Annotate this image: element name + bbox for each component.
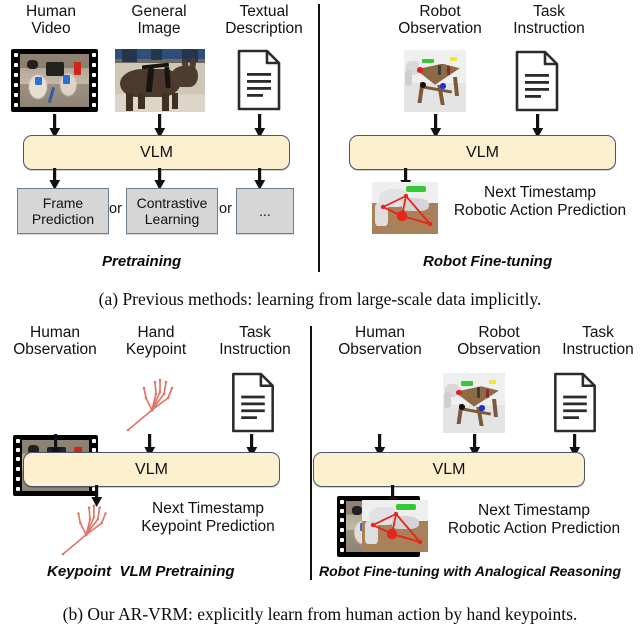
stage-label-keypoint-vlm-pretraining: Keypoint VLM Pretraining xyxy=(47,563,235,580)
robot-observation-icon xyxy=(443,373,505,433)
or-label-1: or xyxy=(219,201,232,217)
hand-keypoint-icon xyxy=(126,372,188,434)
human-video-scene xyxy=(20,54,89,107)
arrow-down-a-left-out-2 xyxy=(252,168,267,190)
colhead-a-left-2: Textual Description xyxy=(212,3,316,38)
colhead-b-right-1: Robot Observation xyxy=(440,324,558,359)
colhead-b-right-2: Task Instruction xyxy=(556,324,640,359)
keypoint-overlay xyxy=(372,182,438,234)
keypoint-overlay xyxy=(362,500,428,552)
film-strip-human-video-icon xyxy=(11,49,98,112)
output-box-ellipsis[interactable]: ... xyxy=(236,188,294,234)
vlm-box-b-left[interactable]: VLM xyxy=(23,452,280,487)
colhead-b-left-0: Human Observation xyxy=(0,324,110,359)
robot-observation-scene xyxy=(404,50,466,112)
colhead-b-left-1: Hand Keypoint xyxy=(110,324,202,359)
colhead-a-right-0: Robot Observation xyxy=(385,3,495,38)
robot-action-keypoint-icon xyxy=(362,500,428,552)
colhead-a-right-1: Task Instruction xyxy=(497,3,601,38)
output-box-contrastive-learning[interactable]: Contrastive Learning xyxy=(126,188,218,234)
stage-label-robot-finetuning-analogical: Robot Fine-tuning with Analogical Reason… xyxy=(319,563,621,579)
film-strip-frame xyxy=(20,54,89,107)
colhead-b-left-2: Task Instruction xyxy=(203,324,307,359)
caption-b: (b) Our AR-VRM: explicitly learn from hu… xyxy=(0,604,640,625)
document-icon xyxy=(235,49,283,111)
arrow-down-a-left-out-1 xyxy=(152,168,167,190)
or-label-0: or xyxy=(109,201,122,217)
arrow-down-a-left-out-0 xyxy=(47,168,62,190)
output-text-a-right: Next Timestamp Robotic Action Prediction xyxy=(440,184,640,221)
vlm-box-a-left[interactable]: VLM xyxy=(23,135,290,170)
caption-a: (a) Previous methods: learning from larg… xyxy=(0,289,640,310)
vlm-box-a-right[interactable]: VLM xyxy=(349,135,616,170)
document-icon xyxy=(513,50,561,112)
panel-a-divider xyxy=(318,4,320,272)
robot-observation-scene xyxy=(443,373,505,433)
colhead-a-left-0: Human Video xyxy=(5,3,97,38)
robot-action-keypoint-icon xyxy=(372,182,438,234)
document-icon xyxy=(229,372,277,433)
output-text-b-left: Next Timestamp Keypoint Prediction xyxy=(118,500,298,537)
general-image-scene xyxy=(115,49,205,112)
vlm-box-b-right[interactable]: VLM xyxy=(313,452,585,487)
photo-donkey-icon xyxy=(115,49,205,112)
output-box-frame-prediction[interactable]: Frame Prediction xyxy=(17,188,109,234)
figure-root: Human Video General Image Textual Descri… xyxy=(0,0,640,624)
stage-label-pretraining: Pretraining xyxy=(102,253,181,270)
colhead-b-right-0: Human Observation xyxy=(320,324,440,359)
output-text-b-right: Next Timestamp Robotic Action Prediction xyxy=(430,502,638,539)
stage-label-robot-finetuning: Robot Fine-tuning xyxy=(423,253,552,270)
document-icon xyxy=(551,372,599,433)
robot-observation-icon xyxy=(404,50,466,112)
colhead-a-left-1: General Image xyxy=(109,3,209,38)
hand-keypoint-icon xyxy=(60,498,122,558)
panel-b-divider xyxy=(310,326,312,580)
